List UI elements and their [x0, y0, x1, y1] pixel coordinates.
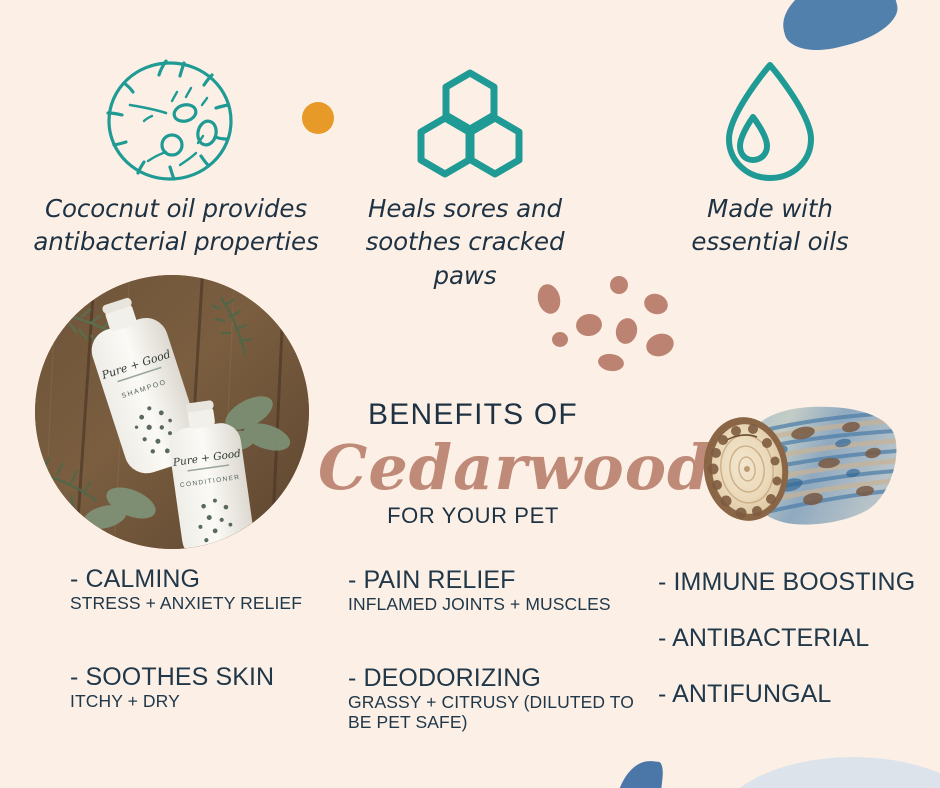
- benefit-title: - ANTIBACTERIAL: [658, 625, 938, 652]
- title-benefits-of: BENEFITS OF: [318, 398, 628, 432]
- benefit-item: - CALMING STRESS + ANXIETY RELIEF: [70, 566, 332, 614]
- benefits-column-middle: - PAIN RELIEF INFLAMED JOINTS + MUSCLES …: [348, 567, 638, 783]
- benefit-item: - DEODORIZING GRASSY + CITRUSY (DILUTED …: [348, 665, 638, 733]
- benefits-column-left: - CALMING STRESS + ANXIETY RELIEF - SOOT…: [70, 566, 332, 762]
- rose-speckle-cluster-decoration: [528, 272, 698, 377]
- cedar-log-illustration: [683, 393, 903, 543]
- benefit-item: - ANTIBACTERIAL: [658, 625, 938, 652]
- benefits-column-right: - IMMUNE BOOSTING - ANTIBACTERIAL - ANTI…: [658, 569, 938, 737]
- benefit-title: - SOOTHES SKIN: [70, 664, 332, 691]
- benefit-subtitle: ITCHY + DRY: [70, 692, 332, 712]
- benefit-subtitle: GRASSY + CITRUSY (DILUTED TO BE PET SAFE…: [348, 693, 638, 733]
- title-cedarwood: Cedarwood: [318, 436, 628, 499]
- benefit-item: - ANTIFUNGAL: [658, 681, 938, 708]
- honeycomb-icon: [395, 58, 545, 188]
- feature-caption-droplet: Made with essential oils: [665, 192, 875, 259]
- benefit-title: - CALMING: [70, 566, 332, 593]
- feature-icon-row: [0, 54, 940, 184]
- benefit-title: - DEODORIZING: [348, 665, 638, 692]
- coconut-icon: [95, 56, 245, 186]
- benefit-item: - SOOTHES SKIN ITCHY + DRY: [70, 664, 332, 712]
- benefit-subtitle: STRESS + ANXIETY RELIEF: [70, 594, 332, 614]
- water-droplet-icon: [695, 56, 845, 186]
- benefit-item: - IMMUNE BOOSTING: [658, 569, 938, 596]
- product-photo: Pure + Good SHAMPOO: [35, 275, 309, 549]
- feature-caption-coconut: Cococnut oil provides antibacterial prop…: [16, 192, 336, 259]
- benefit-title: - ANTIFUNGAL: [658, 681, 938, 708]
- benefit-title: - PAIN RELIEF: [348, 567, 638, 594]
- infographic-canvas: Cococnut oil provides antibacterial prop…: [0, 0, 940, 788]
- blue-blob-top-right-decoration: [774, 0, 903, 59]
- benefit-subtitle: INFLAMED JOINTS + MUSCLES: [348, 595, 638, 615]
- benefit-title: - IMMUNE BOOSTING: [658, 569, 938, 596]
- benefit-item: - PAIN RELIEF INFLAMED JOINTS + MUSCLES: [348, 567, 638, 615]
- title-for-your-pet: FOR YOUR PET: [318, 503, 628, 529]
- pale-blue-blob-bottom-decoration: [713, 757, 940, 788]
- title-block: BENEFITS OF Cedarwood FOR YOUR PET: [318, 398, 628, 529]
